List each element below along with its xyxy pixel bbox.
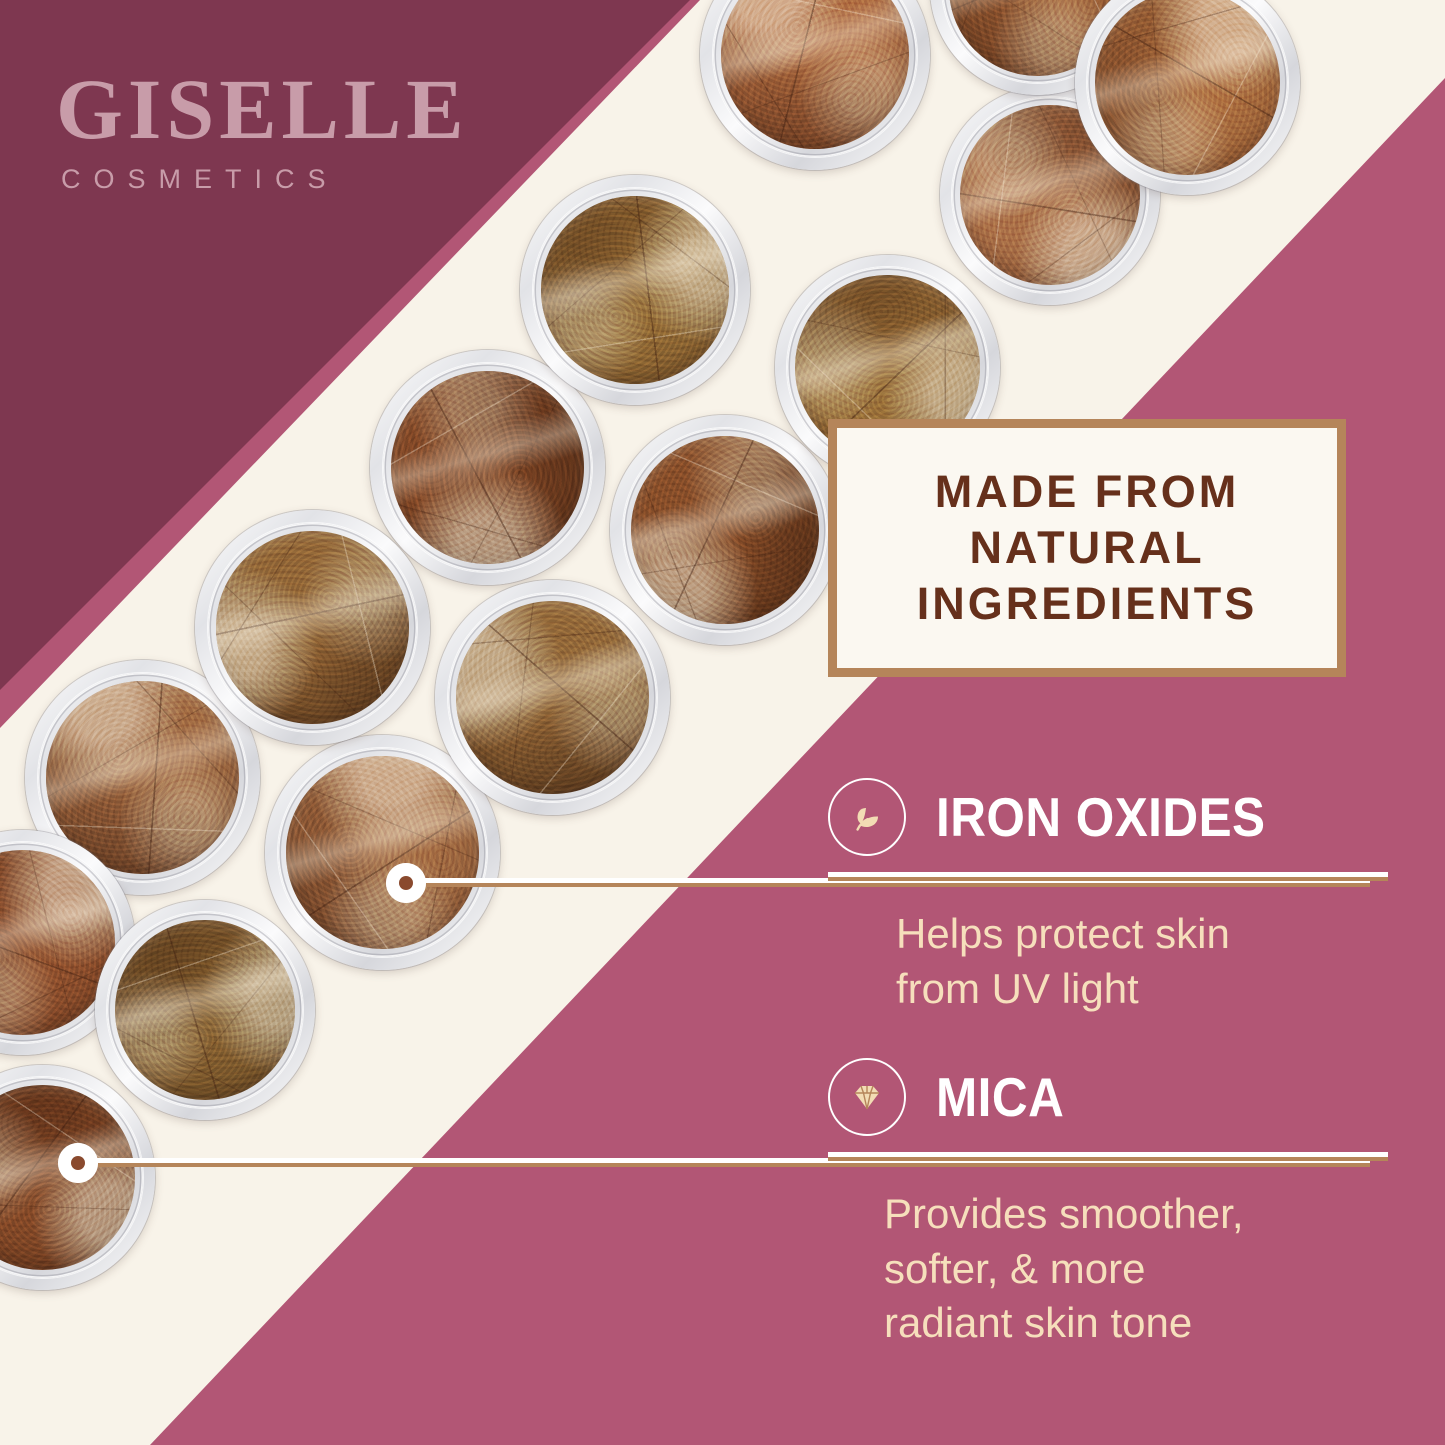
ingredient-divider-rule [828,872,1388,881]
mineral-powder-surface [216,531,409,724]
headline-line-2: NATURAL [969,521,1204,575]
brand-logo: GISELLE COSMETICS [56,66,469,193]
ingredient-header: IRON OXIDES [828,778,1388,856]
ingredient-description: Provides smoother, softer, & more radian… [828,1187,1388,1351]
ingredient-block-mica: MICA Provides smoother, softer, & more r… [828,1058,1388,1351]
mineral-powder-surface [541,196,730,385]
brand-name: GISELLE [56,66,469,152]
ingredient-title: IRON OXIDES [936,790,1266,845]
connector-endpoint-marker [58,1143,98,1183]
ingredient-description: Helps protect skin from UV light [828,907,1388,1016]
mineral-powder-surface [1095,0,1280,175]
headline-card-inner: MADE FROM NATURAL INGREDIENTS [837,428,1337,668]
mineral-powder-surface [286,756,479,949]
mineral-powder-surface [456,601,649,794]
product-jar [520,175,750,405]
poster-canvas: GISELLE COSMETICS MADE FROM NATURAL INGR… [0,0,1445,1445]
ingredient-divider-rule [828,1152,1388,1161]
headline-line-3: INGREDIENTS [917,577,1258,631]
product-jar [700,0,930,170]
ingredient-header: MICA [828,1058,1388,1136]
product-jar [1075,0,1300,195]
mineral-powder-surface [115,920,295,1100]
product-jar [195,510,430,745]
diamond-icon [828,1058,906,1136]
headline-card: MADE FROM NATURAL INGREDIENTS [828,419,1346,677]
ingredient-block-iron-oxides: IRON OXIDES Helps protect skin from UV l… [828,778,1388,1016]
ingredient-title: MICA [936,1070,1064,1125]
headline-line-1: MADE FROM [935,465,1239,519]
product-jar [435,580,670,815]
product-jar [95,900,315,1120]
mineral-powder-surface [391,371,584,564]
mineral-powder-surface [631,436,820,625]
connector-endpoint-marker [386,863,426,903]
mineral-powder-surface [721,0,910,149]
product-jar [610,415,840,645]
leaf-icon [828,778,906,856]
brand-tagline: COSMETICS [61,166,469,193]
